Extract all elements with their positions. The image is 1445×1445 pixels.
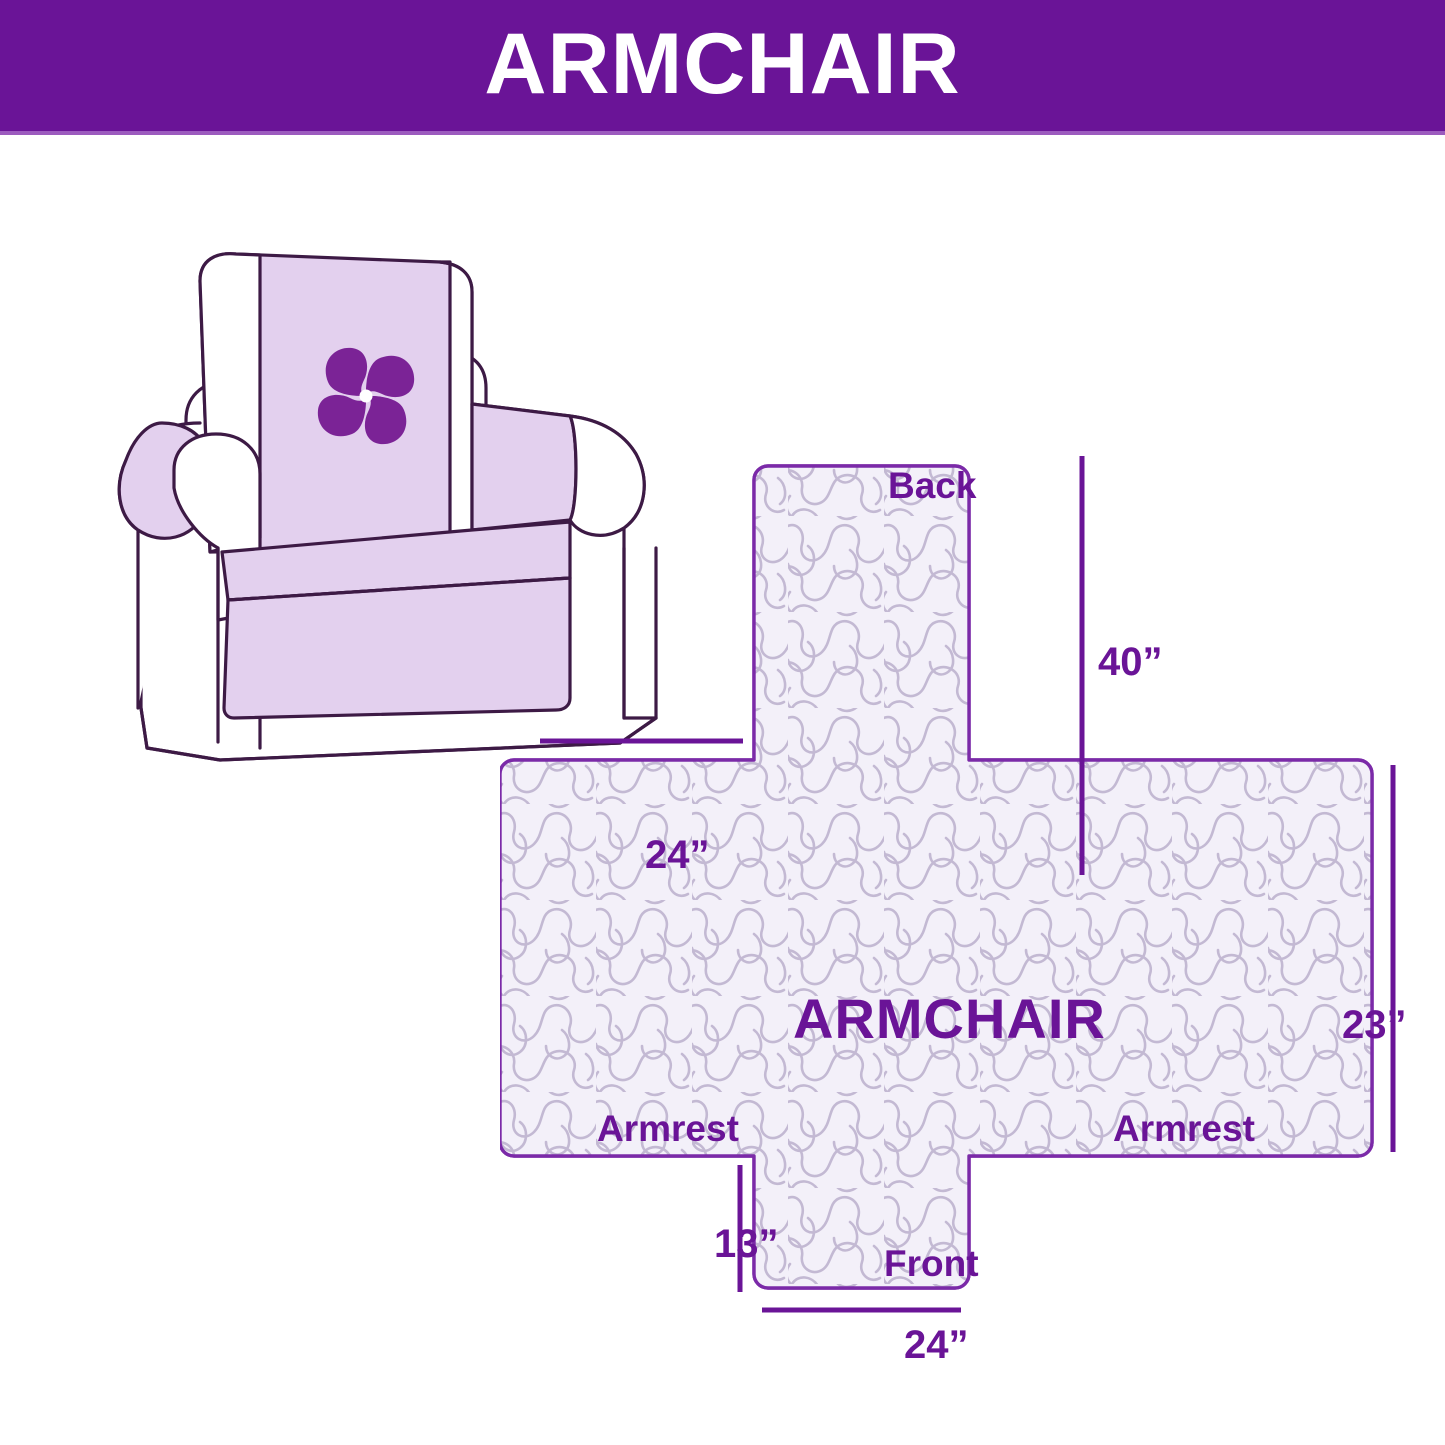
dimension-label-front-height: 13”	[714, 1224, 779, 1264]
cover-cross-shape	[500, 450, 1390, 1310]
dimension-label-center-height: 23”	[1342, 1005, 1407, 1045]
panel-label-back: Back	[888, 467, 976, 504]
dimension-label-front-width: 24”	[904, 1325, 969, 1365]
header-underline-divider	[0, 131, 1445, 135]
product-diagram-page: ARMCHAIR	[0, 0, 1445, 1445]
pinwheel-fan-logo	[318, 348, 414, 444]
page-title: ARMCHAIR	[0, 0, 1445, 134]
dimension-label-armrest-width: 24”	[645, 835, 710, 875]
panel-label-armrest-left: Armrest	[597, 1110, 739, 1147]
panel-label-front: Front	[884, 1245, 979, 1282]
dimension-label-back-height: 40”	[1098, 642, 1163, 682]
panel-label-center: ARMCHAIR	[793, 991, 1106, 1047]
panel-label-armrest-right: Armrest	[1113, 1110, 1255, 1147]
header-banner: ARMCHAIR	[0, 0, 1445, 134]
